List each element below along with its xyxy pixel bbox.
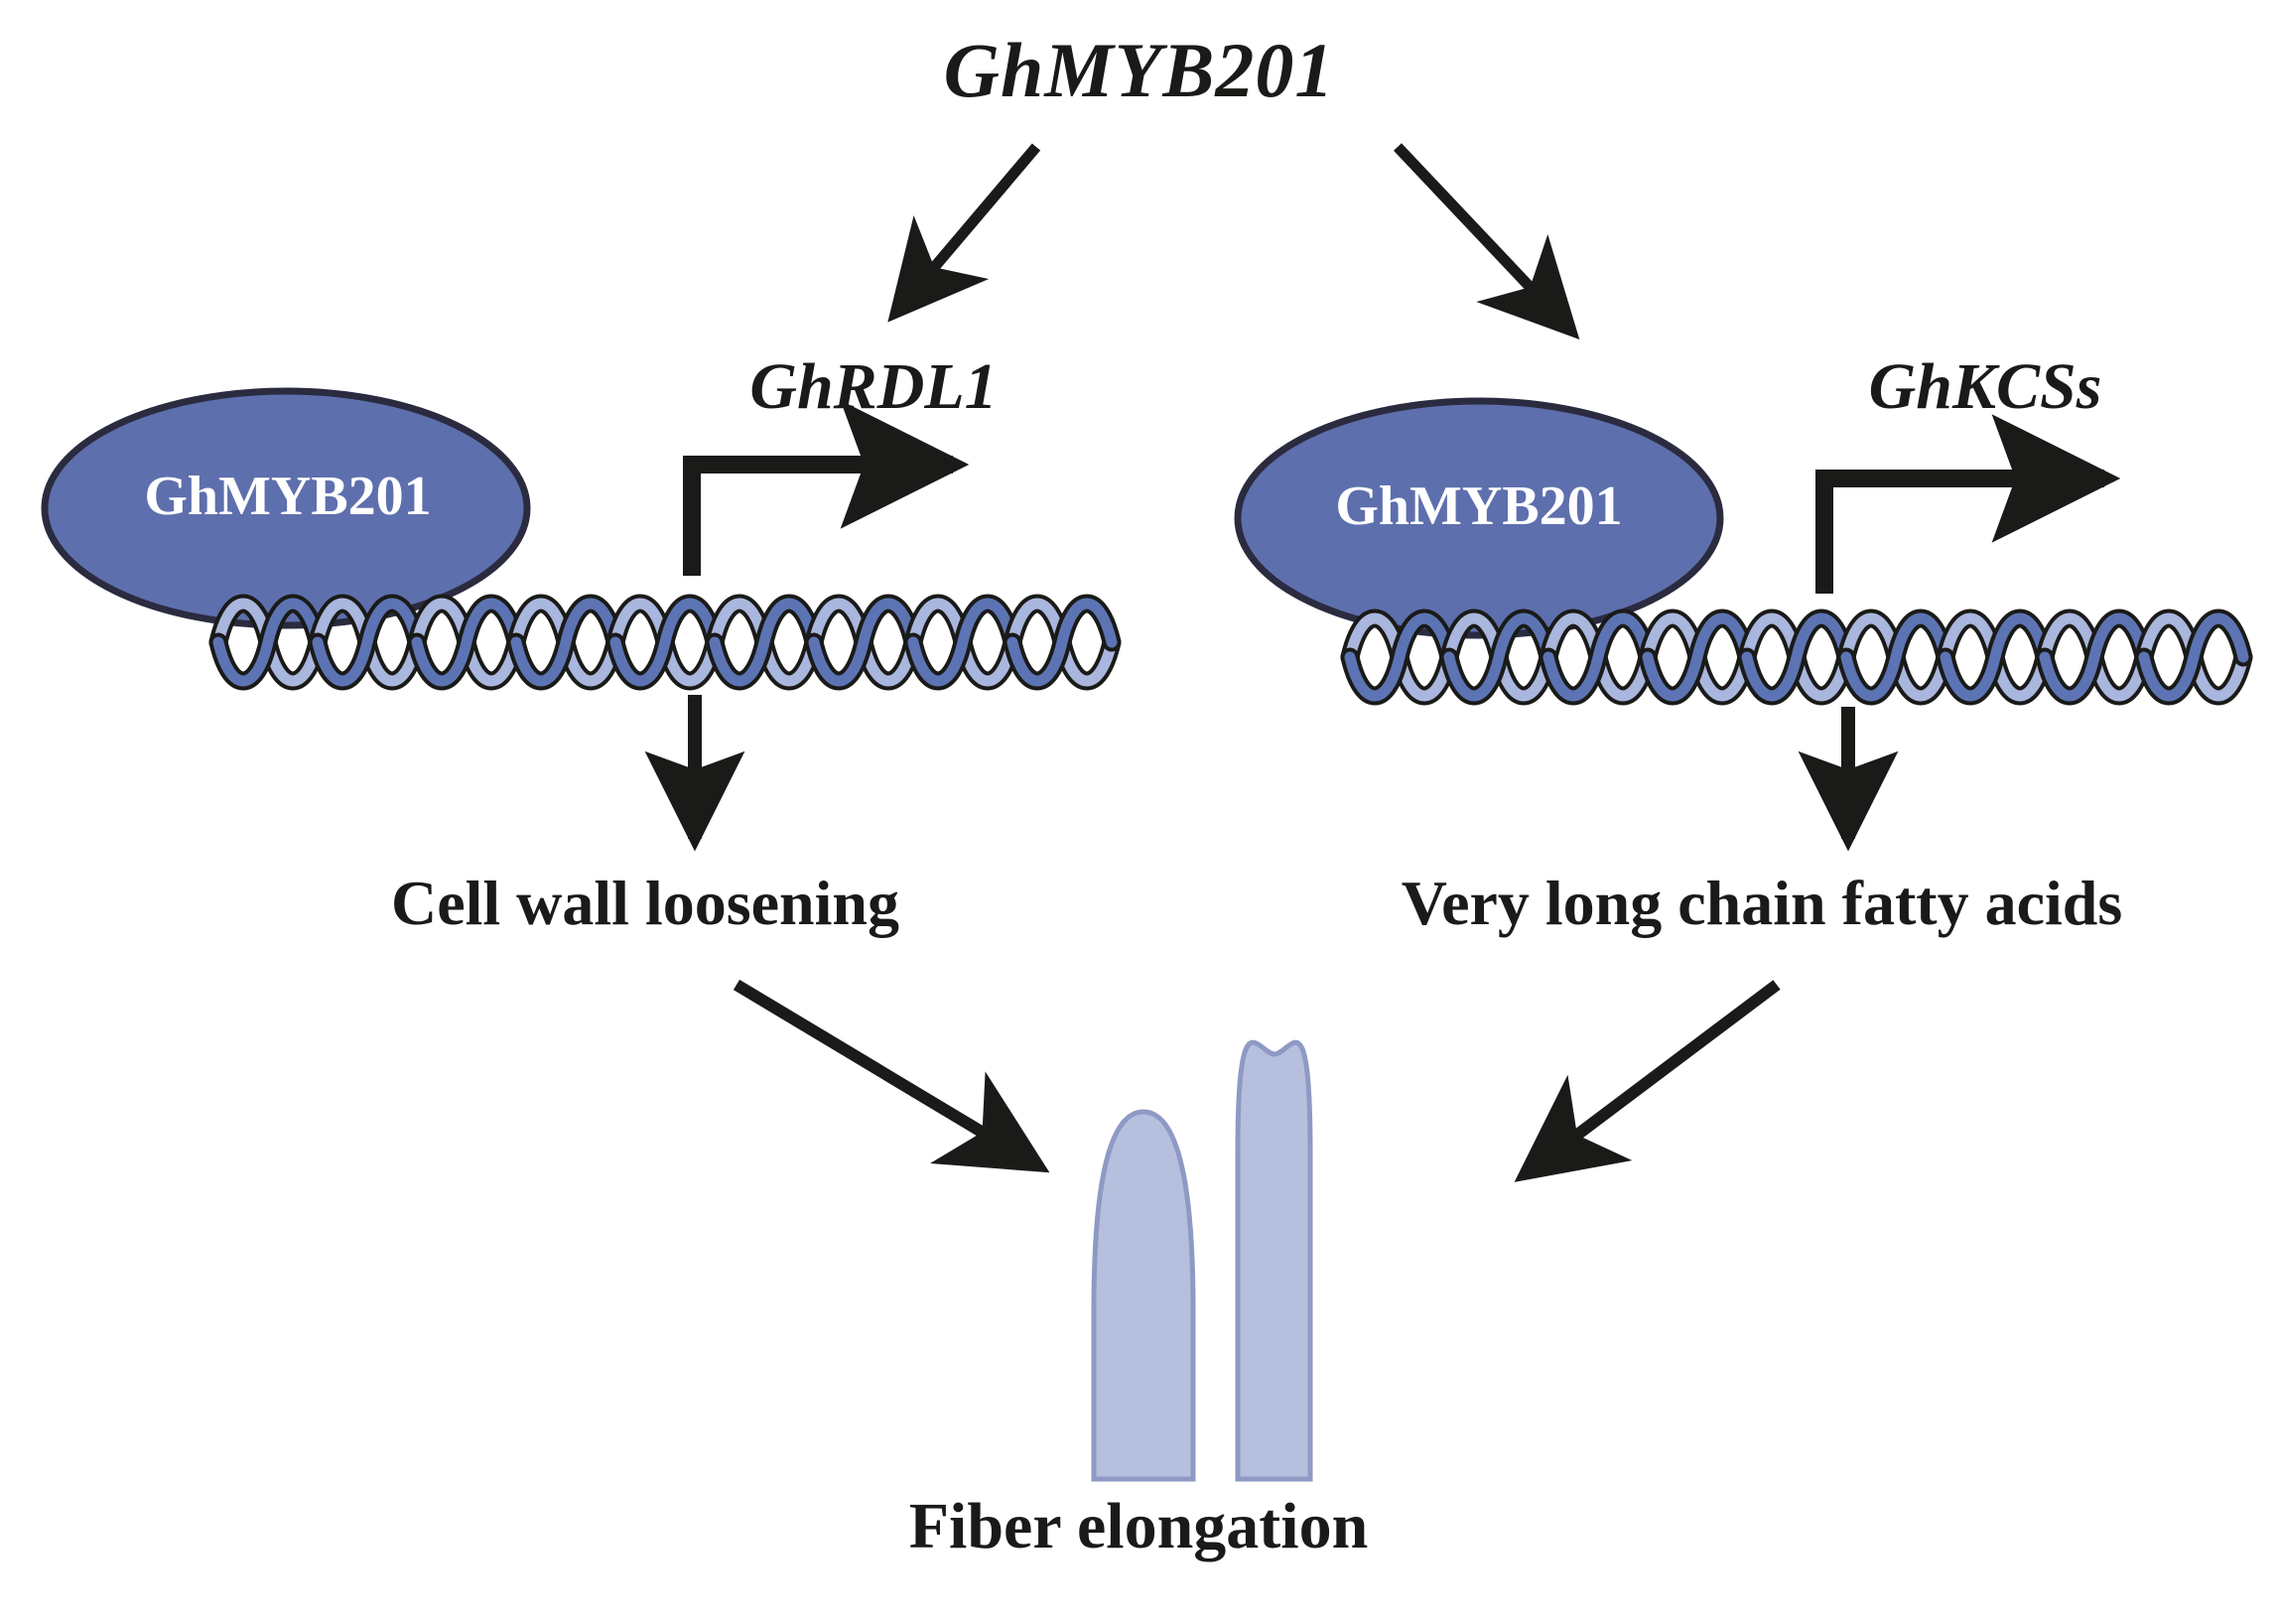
gene-label-right: GhKCSs xyxy=(1687,354,2278,420)
diagram-canvas xyxy=(0,0,2278,1624)
dna-double-helix-right xyxy=(1350,618,2243,696)
pathway-diagram: GhMYB201 GhRDL1 GhKCSs GhMYB201 GhMYB201… xyxy=(0,0,2278,1624)
protein-label-right: GhMYB201 xyxy=(1246,478,1712,534)
dna-double-helix-left xyxy=(218,604,1112,681)
arrow-title-to-right-branch xyxy=(1398,147,1568,328)
arrow-title-to-left-branch xyxy=(898,147,1036,310)
arrow-left-process-to-fiber xyxy=(737,985,1034,1163)
protein-label-left: GhMYB201 xyxy=(55,469,521,524)
process-label-left: Cell wall loosening xyxy=(159,872,1132,935)
page-title: GhMYB201 xyxy=(0,32,2278,109)
process-label-right: Very long chain fatty acids xyxy=(1261,872,2263,935)
arrow-right-process-to-fiber xyxy=(1529,985,1777,1171)
gene-label-left: GhRDL1 xyxy=(576,354,1171,420)
cotton-fiber-tall xyxy=(1238,1042,1310,1479)
bent-transcription-arrow-left xyxy=(692,465,953,576)
outcome-label: Fiber elongation xyxy=(642,1494,1635,1559)
bent-transcription-arrow-right xyxy=(1824,478,2104,594)
cotton-fiber-short xyxy=(1094,1112,1193,1479)
